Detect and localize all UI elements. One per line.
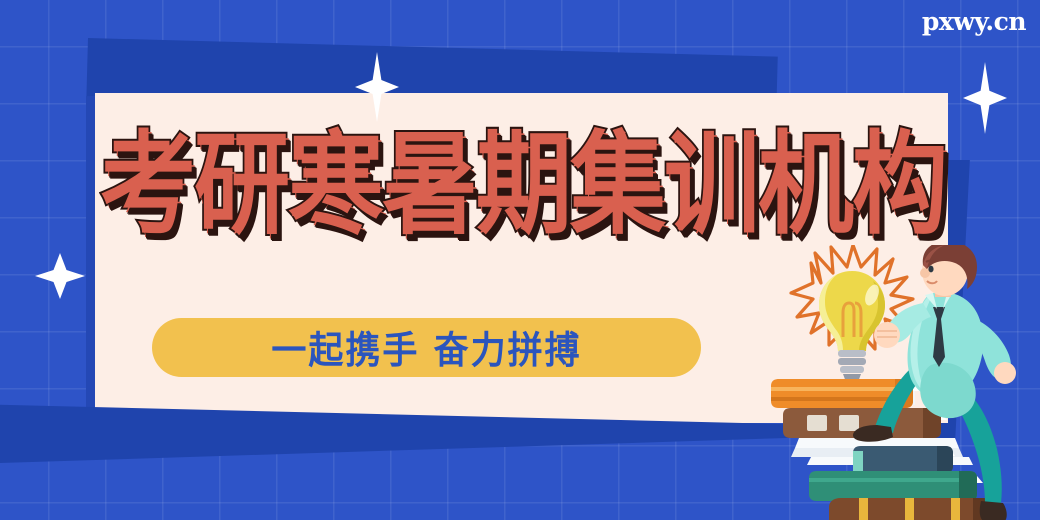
sparkle-star-icon-top-right [963,62,1007,134]
lightbulb-base-icon [838,350,866,382]
book-navy [853,446,955,473]
eye-icon [928,266,933,273]
shoe-back-icon [980,501,1007,520]
book-teal [809,471,983,501]
subtitle-banner: 一起携手 奋力拼搏 [152,318,701,377]
sparkle-star-icon-left [35,253,85,299]
raised-fist-icon [874,322,900,348]
watermark-text: pxwy.cn [922,7,1026,36]
hand-back-icon [994,362,1016,384]
illustration-books-and-student [755,245,1040,520]
book-maroon [829,498,997,520]
poster-canvas: pxwy.cn 考研寒暑期集训机构 一起携手 奋力拼搏 [0,0,1040,520]
subtitle-text: 一起携手 奋力拼搏 [271,320,581,375]
page-title: 考研寒暑期集训机构 [100,129,950,240]
